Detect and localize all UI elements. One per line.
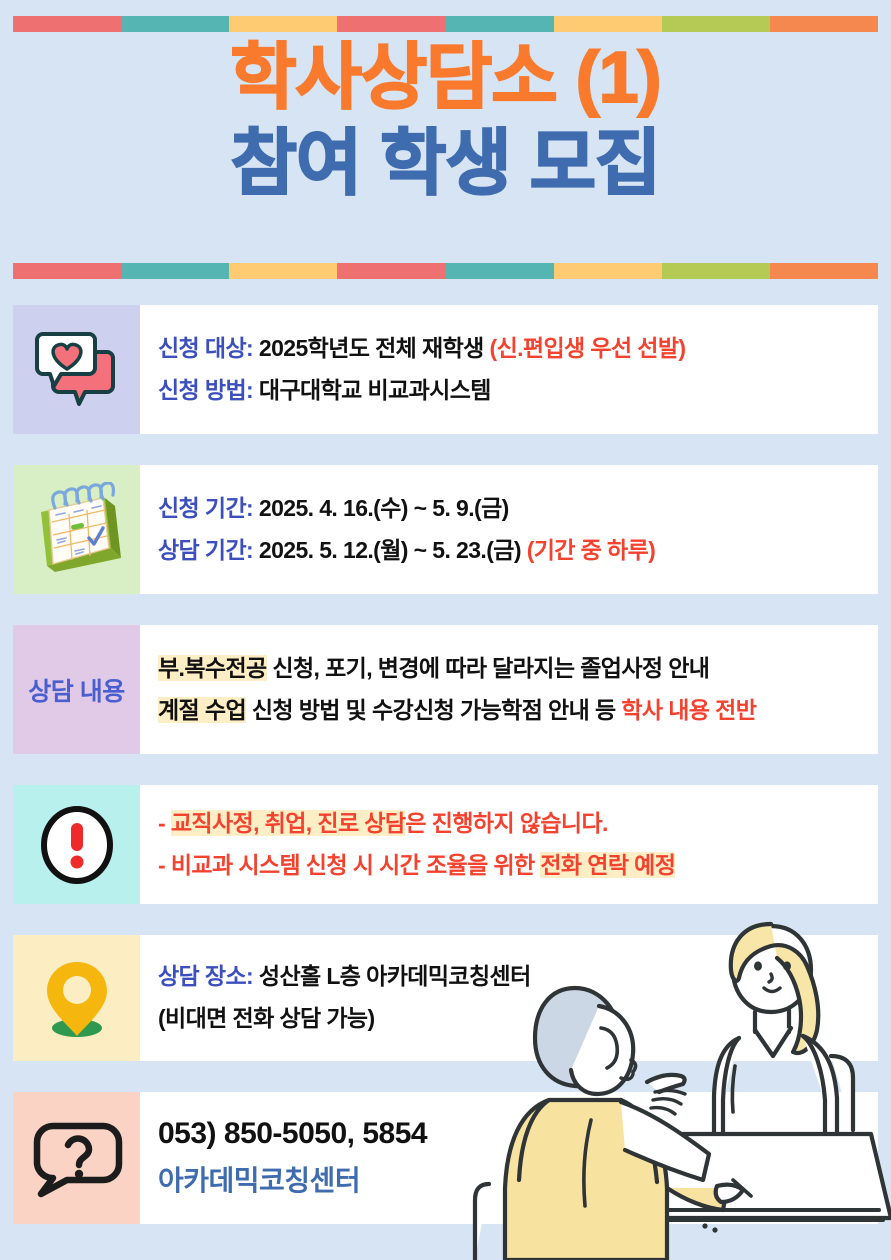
location-pin-icon bbox=[35, 954, 119, 1042]
row-application-method: 신청 방법: 대구대학교 비교과시스템 bbox=[158, 376, 868, 406]
value-place: 성산홀 L층 아카데믹코칭센터 bbox=[253, 963, 531, 989]
exclamation-circle-icon bbox=[35, 803, 119, 887]
value-place-note: (비대면 전화 상담 가능) bbox=[158, 1005, 375, 1031]
label-application-target: 신청 대상: bbox=[158, 335, 253, 361]
row-counseling-period: 상담 기간: 2025. 5. 12.(월) ~ 5. 23.(금) (기간 중… bbox=[158, 536, 868, 566]
student-mouth bbox=[621, 1074, 633, 1079]
row-content-1: 부.복수전공 신청, 포기, 변경에 따라 달라지는 졸업사정 안내 bbox=[158, 654, 868, 684]
card-notice-body: - 교직사정, 취업, 진로 상담은 진행하지 않습니다. - 비교과 시스템 … bbox=[140, 785, 878, 904]
phone-number[interactable]: 053) 850-5050, 5854 bbox=[158, 1117, 868, 1151]
stripe-segment-1 bbox=[13, 263, 121, 279]
row-notice-1: - 교직사정, 취업, 진로 상담은 진행하지 않습니다. bbox=[158, 809, 868, 839]
title-line-2: 참여 학생 모집 bbox=[0, 128, 891, 200]
exclamation-circle-icon-panel bbox=[13, 785, 140, 904]
sleeve-dot-2 bbox=[712, 1227, 717, 1232]
highlight-notice-2: 전화 연락 예정 bbox=[540, 852, 675, 878]
stripe-segment-5 bbox=[446, 16, 554, 32]
card-place-body: 상담 장소: 성산홀 L층 아카데믹코칭센터 (비대면 전화 상담 가능) bbox=[140, 935, 878, 1061]
card-counseling-content-body: 부.복수전공 신청, 포기, 변경에 따라 달라지는 졸업사정 안내 계절 수업… bbox=[140, 625, 878, 754]
row-place-1: 상담 장소: 성산홀 L층 아카데믹코칭센터 bbox=[158, 962, 868, 992]
card-counseling-content: 상담 내용 부.복수전공 신청, 포기, 변경에 따라 달라지는 졸업사정 안내… bbox=[13, 625, 878, 754]
card-contact-body: 053) 850-5050, 5854 아카데믹코칭센터 bbox=[140, 1092, 878, 1224]
decorative-color-stripe-top bbox=[13, 16, 878, 32]
label-application-method: 신청 방법: bbox=[158, 377, 253, 403]
title-line-1: 학사상담소 (1) bbox=[0, 42, 891, 114]
page-title: 학사상담소 (1) 참여 학생 모집 bbox=[0, 42, 891, 200]
rest-notice-1: 은 진행하지 않습니다. bbox=[405, 810, 607, 836]
value-application-target: 2025학년도 전체 재학생 bbox=[253, 335, 489, 361]
stripe-segment-8 bbox=[770, 263, 878, 279]
stripe-segment-6 bbox=[554, 16, 662, 32]
row-content-2: 계절 수업 신청 방법 및 수강신청 가능학점 안내 등 학사 내용 전반 bbox=[158, 696, 868, 726]
card-period: 신청 기간: 2025. 4. 16.(수) ~ 5. 9.(금) 상담 기간:… bbox=[13, 465, 878, 594]
highlight-content-2: 계절 수업 bbox=[158, 697, 246, 723]
label-application-period: 신청 기간: bbox=[158, 495, 253, 521]
student-hand bbox=[647, 1075, 685, 1092]
dash-notice-2: - bbox=[158, 852, 171, 878]
dash-notice-1: - bbox=[158, 810, 171, 836]
rest-content-2: 신청 방법 및 수강신청 가능학점 안내 등 bbox=[246, 697, 621, 723]
row-place-2: (비대면 전화 상담 가능) bbox=[158, 1004, 868, 1034]
poster-root: 학사상담소 (1) 참여 학생 모집 신청 대상: 2025학년도 전체 재학생… bbox=[0, 0, 891, 1260]
stripe-segment-2 bbox=[121, 16, 229, 32]
decorative-color-stripe-bottom bbox=[13, 263, 878, 279]
stripe-segment-2 bbox=[121, 263, 229, 279]
value-counseling-period: 2025. 5. 12.(월) ~ 5. 23.(금) bbox=[253, 537, 527, 563]
card-application-target: 신청 대상: 2025학년도 전체 재학생 (신.편입생 우선 선발) 신청 방… bbox=[13, 305, 878, 434]
card-application-target-body: 신청 대상: 2025학년도 전체 재학생 (신.편입생 우선 선발) 신청 방… bbox=[140, 305, 878, 434]
value-application-method: 대구대학교 비교과시스템 bbox=[253, 377, 491, 403]
card-notice: - 교직사정, 취업, 진로 상담은 진행하지 않습니다. - 비교과 시스템 … bbox=[13, 785, 878, 904]
row-notice-2: - 비교과 시스템 신청 시 시간 조율을 위한 전화 연락 예정 bbox=[158, 851, 868, 881]
stripe-segment-3 bbox=[229, 16, 337, 32]
stripe-segment-6 bbox=[554, 263, 662, 279]
stripe-segment-3 bbox=[229, 263, 337, 279]
card-contact: 053) 850-5050, 5854 아카데믹코칭센터 bbox=[13, 1092, 878, 1224]
stripe-segment-5 bbox=[446, 263, 554, 279]
stripe-segment-4 bbox=[337, 263, 445, 279]
side-label-counseling-content: 상담 내용 bbox=[13, 625, 140, 754]
label-place: 상담 장소: bbox=[158, 963, 253, 989]
value-application-period: 2025. 4. 16.(수) ~ 5. 9.(금) bbox=[253, 495, 509, 521]
row-application-target: 신청 대상: 2025학년도 전체 재학생 (신.편입생 우선 선발) bbox=[158, 334, 868, 364]
question-bubble-icon-panel bbox=[13, 1092, 140, 1224]
desk-calendar-icon-panel bbox=[13, 465, 140, 594]
sleeve-dot-1 bbox=[702, 1223, 707, 1228]
note-counseling-period: (기간 중 하루) bbox=[527, 537, 656, 563]
row-application-period: 신청 기간: 2025. 4. 16.(수) ~ 5. 9.(금) bbox=[158, 494, 868, 524]
question-bubble-icon bbox=[31, 1116, 123, 1200]
desk-calendar-icon bbox=[25, 482, 129, 578]
organization-name: 아카데믹코칭센터 bbox=[158, 1159, 868, 1199]
chat-heart-icon bbox=[31, 328, 123, 412]
student-nose bbox=[631, 1060, 636, 1072]
stripe-segment-1 bbox=[13, 16, 121, 32]
highlight-notice-1: 교직사정, 취업, 진로 상담 bbox=[171, 810, 406, 836]
stripe-segment-8 bbox=[770, 16, 878, 32]
tail-content-2: 학사 내용 전반 bbox=[621, 697, 756, 723]
note-application-target: (신.편입생 우선 선발) bbox=[490, 335, 686, 361]
rest-content-1: 신청, 포기, 변경에 따라 달라지는 졸업사정 안내 bbox=[267, 655, 710, 681]
chat-heart-icon-panel bbox=[13, 305, 140, 434]
label-counseling-period: 상담 기간: bbox=[158, 537, 253, 563]
highlight-content-1: 부.복수전공 bbox=[158, 655, 267, 681]
stripe-segment-4 bbox=[337, 16, 445, 32]
card-period-body: 신청 기간: 2025. 4. 16.(수) ~ 5. 9.(금) 상담 기간:… bbox=[140, 465, 878, 594]
rest-notice-2: 비교과 시스템 신청 시 시간 조율을 위한 bbox=[171, 852, 541, 878]
stripe-segment-7 bbox=[662, 16, 770, 32]
stripe-segment-7 bbox=[662, 263, 770, 279]
location-pin-icon-panel bbox=[13, 935, 140, 1061]
card-place: 상담 장소: 성산홀 L층 아카데믹코칭센터 (비대면 전화 상담 가능) bbox=[13, 935, 878, 1061]
